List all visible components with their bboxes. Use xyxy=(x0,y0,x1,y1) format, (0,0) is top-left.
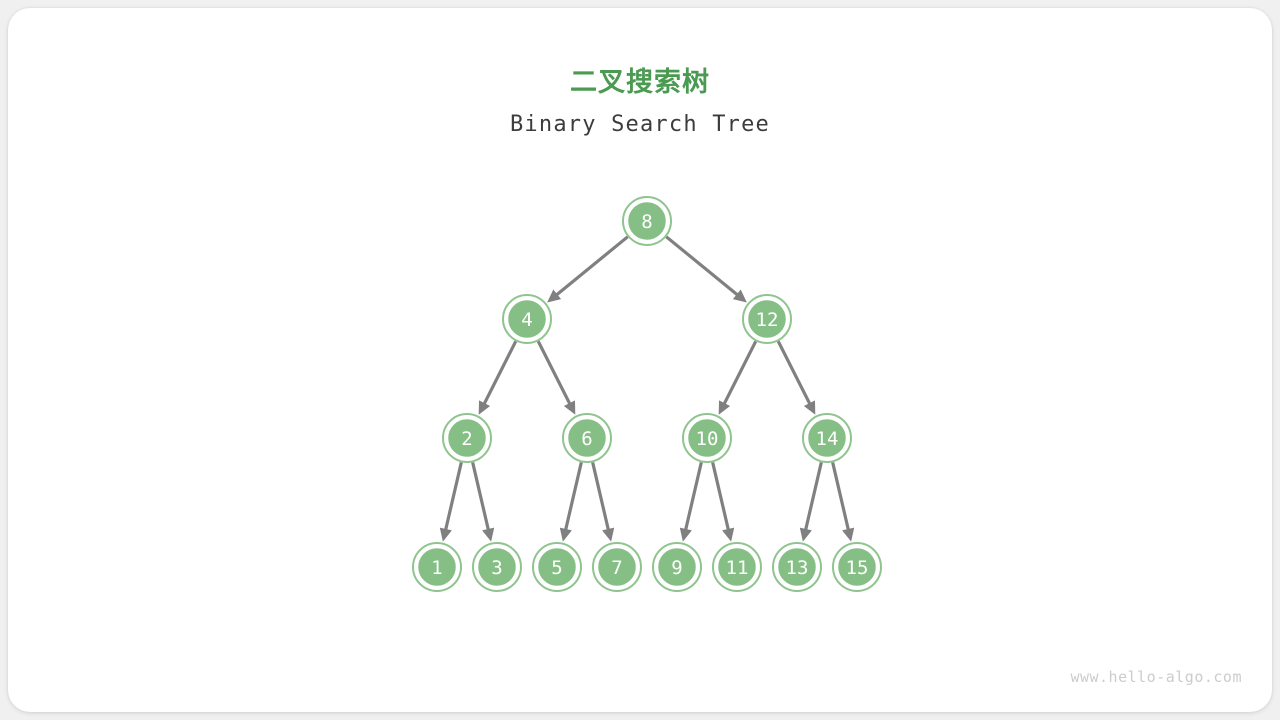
tree-edges xyxy=(440,237,854,542)
tree-node-label: 1 xyxy=(431,557,442,579)
tree-node-label: 11 xyxy=(726,557,749,579)
tree-edge xyxy=(805,462,821,531)
tree-node-label: 2 xyxy=(461,428,472,450)
tree-node[interactable]: 8 xyxy=(623,197,671,245)
tree-edge-arrowhead xyxy=(482,528,494,542)
tree-nodes: 841226101413579111315 xyxy=(413,197,881,591)
tree-edge-arrowhead xyxy=(560,528,572,542)
tree-node-label: 7 xyxy=(611,557,622,579)
tree-edge xyxy=(685,462,701,531)
diagram-card: 二叉搜索树 Binary Search Tree 841226101413579… xyxy=(8,8,1272,712)
tree-edge xyxy=(484,341,516,405)
tree-edge-arrowhead xyxy=(602,528,614,542)
tree-node-label: 6 xyxy=(581,428,592,450)
tree-edge xyxy=(778,341,810,405)
tree-node-label: 9 xyxy=(671,557,682,579)
tree-node-label: 8 xyxy=(641,211,652,233)
tree-node-label: 10 xyxy=(696,428,719,450)
tree-node-label: 5 xyxy=(551,557,562,579)
tree-edge xyxy=(565,462,581,531)
tree-edge-arrowhead xyxy=(722,528,734,542)
tree-node-label: 4 xyxy=(521,309,532,331)
tree-edge xyxy=(473,462,489,531)
tree-node-label: 13 xyxy=(786,557,809,579)
tree-edge xyxy=(593,462,609,531)
tree-node[interactable]: 4 xyxy=(503,295,551,343)
tree-node-label: 12 xyxy=(756,309,779,331)
tree-node[interactable]: 2 xyxy=(443,414,491,462)
tree-edge xyxy=(445,462,461,531)
tree-node[interactable]: 13 xyxy=(773,543,821,591)
tree-node[interactable]: 15 xyxy=(833,543,881,591)
binary-search-tree-diagram: 841226101413579111315 xyxy=(8,8,1272,712)
tree-edge-arrowhead xyxy=(680,528,692,542)
tree-node[interactable]: 9 xyxy=(653,543,701,591)
tree-edge-arrowhead xyxy=(800,528,812,542)
tree-node[interactable]: 3 xyxy=(473,543,521,591)
tree-node-label: 3 xyxy=(491,557,502,579)
tree-node-label: 15 xyxy=(846,557,869,579)
tree-node-label: 14 xyxy=(816,428,839,450)
tree-edge-arrowhead xyxy=(842,528,854,542)
tree-node[interactable]: 5 xyxy=(533,543,581,591)
watermark: www.hello-algo.com xyxy=(1070,668,1242,686)
tree-node[interactable]: 6 xyxy=(563,414,611,462)
tree-node[interactable]: 7 xyxy=(593,543,641,591)
tree-node[interactable]: 11 xyxy=(713,543,761,591)
tree-edge xyxy=(713,462,729,531)
tree-edge xyxy=(833,462,849,531)
tree-edge xyxy=(724,341,756,405)
tree-node[interactable]: 12 xyxy=(743,295,791,343)
tree-node[interactable]: 10 xyxy=(683,414,731,462)
tree-edge xyxy=(538,341,570,405)
tree-edge-arrowhead xyxy=(440,528,452,542)
tree-edge xyxy=(556,237,628,296)
tree-edge xyxy=(666,237,738,296)
tree-node[interactable]: 1 xyxy=(413,543,461,591)
tree-node[interactable]: 14 xyxy=(803,414,851,462)
